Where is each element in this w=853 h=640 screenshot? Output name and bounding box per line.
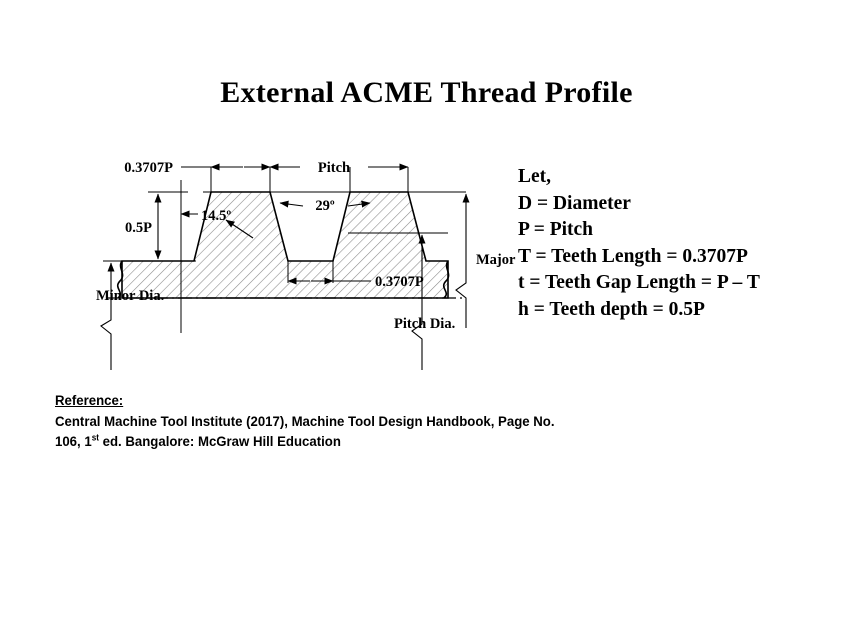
page-title: External ACME Thread Profile <box>0 76 853 110</box>
dim-teeth-depth: 0.5P <box>106 192 188 261</box>
dim-label-minor-dia: Minor Dia. <box>96 288 164 304</box>
top-dimension-row: 0.3707P Pitch <box>124 160 408 176</box>
reference-line2-pre: 106, 1 <box>55 434 92 450</box>
legend-row-diameter: D = Diameter <box>518 191 848 218</box>
dim-label-flank-angle: 14.5º <box>201 208 231 224</box>
legend-block: Let, D = Diameter P = Pitch T = Teeth Le… <box>518 164 848 323</box>
legend-row-teeth-gap-length: t = Teeth Gap Length = P – T <box>518 270 848 297</box>
legend-row-teeth-length: T = Teeth Length = 0.3707P <box>518 244 848 271</box>
reference-line2-post: ed. Bangalore: McGraw Hill Education <box>99 434 341 450</box>
reference-line-1: Central Machine Tool Institute (2017), M… <box>55 412 706 433</box>
reference-citation-title: Machine Tool Design Handbook <box>292 414 491 430</box>
dim-label-groove-length: 0.3707P <box>375 274 424 290</box>
reference-block: Reference: Central Machine Tool Institut… <box>55 391 706 453</box>
reference-line-2: 106, 1st ed. Bangalore: McGraw Hill Educ… <box>55 432 706 453</box>
reference-line1-post: , Page No. <box>491 414 555 430</box>
slide-canvas: External ACME Thread Profile <box>0 0 853 640</box>
dim-label-teeth-length-top: 0.3707P <box>124 160 173 176</box>
reference-heading: Reference: <box>55 391 123 412</box>
reference-line1-pre: Central Machine Tool Institute (2017), <box>55 414 292 430</box>
thread-profile-svg: 0.3707P Pitch 0.5P 14.5º 29º <box>48 148 518 388</box>
legend-heading: Let, <box>518 164 848 191</box>
dim-label-teeth-depth: 0.5P <box>125 220 152 236</box>
legend-row-pitch: P = Pitch <box>518 217 848 244</box>
acme-thread-profile-drawing: 0.3707P Pitch 0.5P 14.5º 29º <box>48 148 518 388</box>
dim-label-pitch-dia: Pitch Dia. <box>394 316 455 332</box>
dim-label-included-angle: 29º <box>315 198 335 214</box>
dim-label-pitch: Pitch <box>318 160 350 176</box>
dim-major-dia: Major Dia. <box>456 194 518 328</box>
dim-label-major-dia: Major Dia. <box>476 252 518 268</box>
legend-row-teeth-depth: h = Teeth depth = 0.5P <box>518 297 848 324</box>
